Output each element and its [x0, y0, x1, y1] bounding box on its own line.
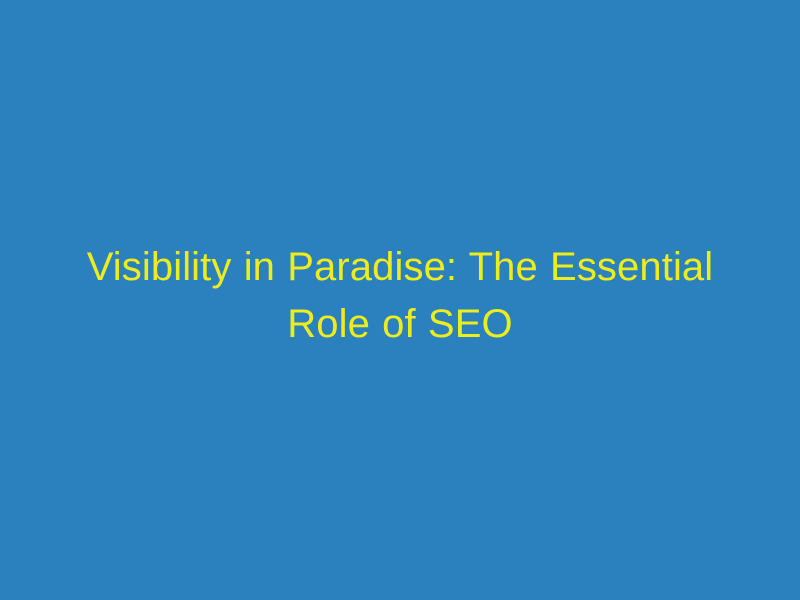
page-title: Visibility in Paradise: The Essential Ro… — [56, 239, 744, 353]
title-card-canvas: Visibility in Paradise: The Essential Ro… — [0, 0, 800, 600]
title-text-block: Visibility in Paradise: The Essential Ro… — [0, 239, 800, 353]
